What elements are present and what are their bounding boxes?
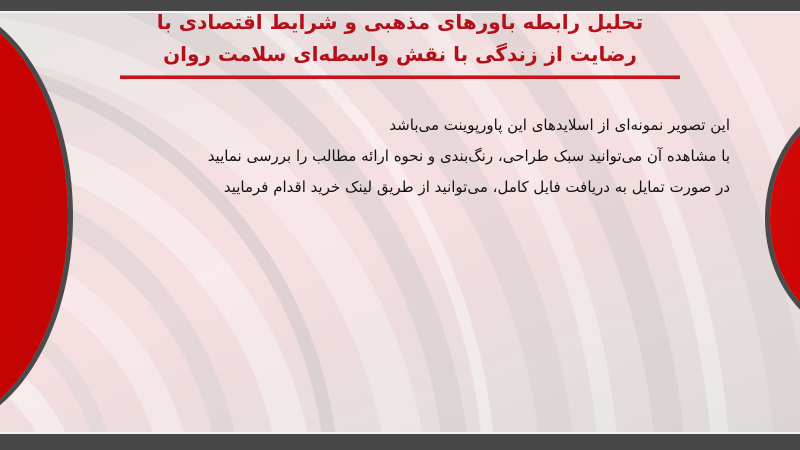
title-underline-rule <box>120 75 680 79</box>
top-band <box>0 0 800 11</box>
slide-body-line-1: این تصویر نمونه‌ای از اسلایدهای این پاور… <box>90 110 730 141</box>
slide-body-line-3: در صورت تمایل به دریافت فایل کامل، می‌تو… <box>90 172 730 203</box>
slide-body-line-2: با مشاهده آن می‌توانید سبک طراحی، رنگ‌بن… <box>90 141 730 172</box>
bottom-band <box>0 434 800 450</box>
bottom-band-highlight <box>0 432 800 434</box>
slide-body: این تصویر نمونه‌ای از اسلایدهای این پاور… <box>90 110 730 203</box>
presentation-slide: تحلیل رابطه باورهای مذهبی و شرایط اقتصاد… <box>0 0 800 450</box>
top-band-highlight <box>0 11 800 13</box>
slide-title: تحلیل رابطه باورهای مذهبی و شرایط اقتصاد… <box>110 6 690 79</box>
slide-title-line-2: رضایت از زندگی با نقش واسطه‌ای سلامت روا… <box>110 38 690 70</box>
